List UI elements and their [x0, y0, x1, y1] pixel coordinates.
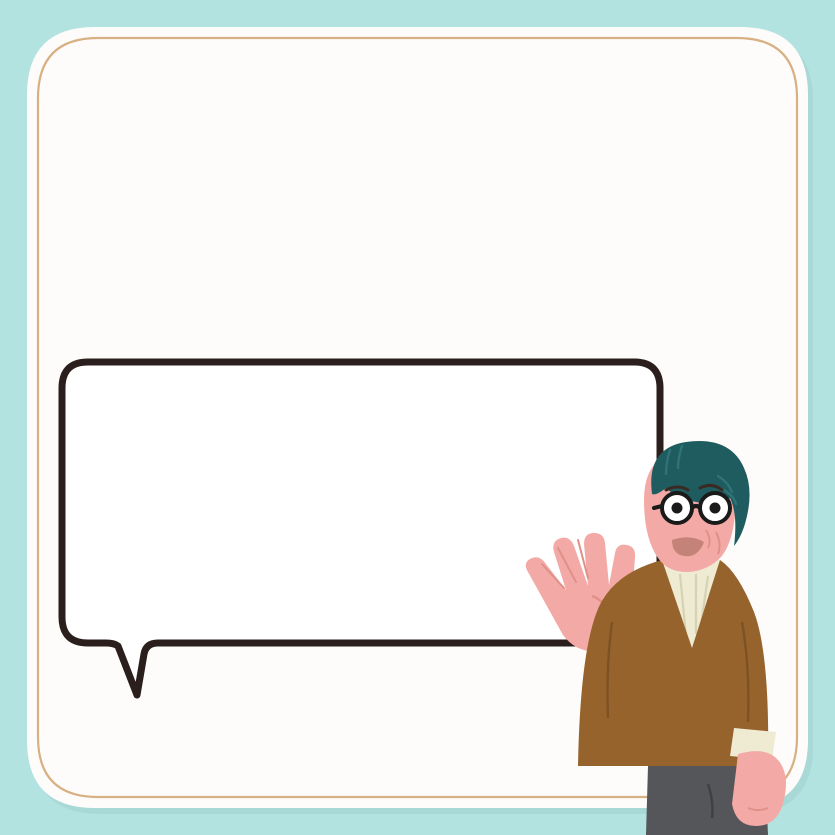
left-eye [672, 503, 683, 514]
head [644, 441, 750, 572]
character-svg [520, 436, 835, 835]
character-illustration [520, 436, 835, 835]
infographic-canvas [0, 0, 835, 835]
right-eye [710, 503, 721, 514]
right-hand [730, 728, 786, 826]
